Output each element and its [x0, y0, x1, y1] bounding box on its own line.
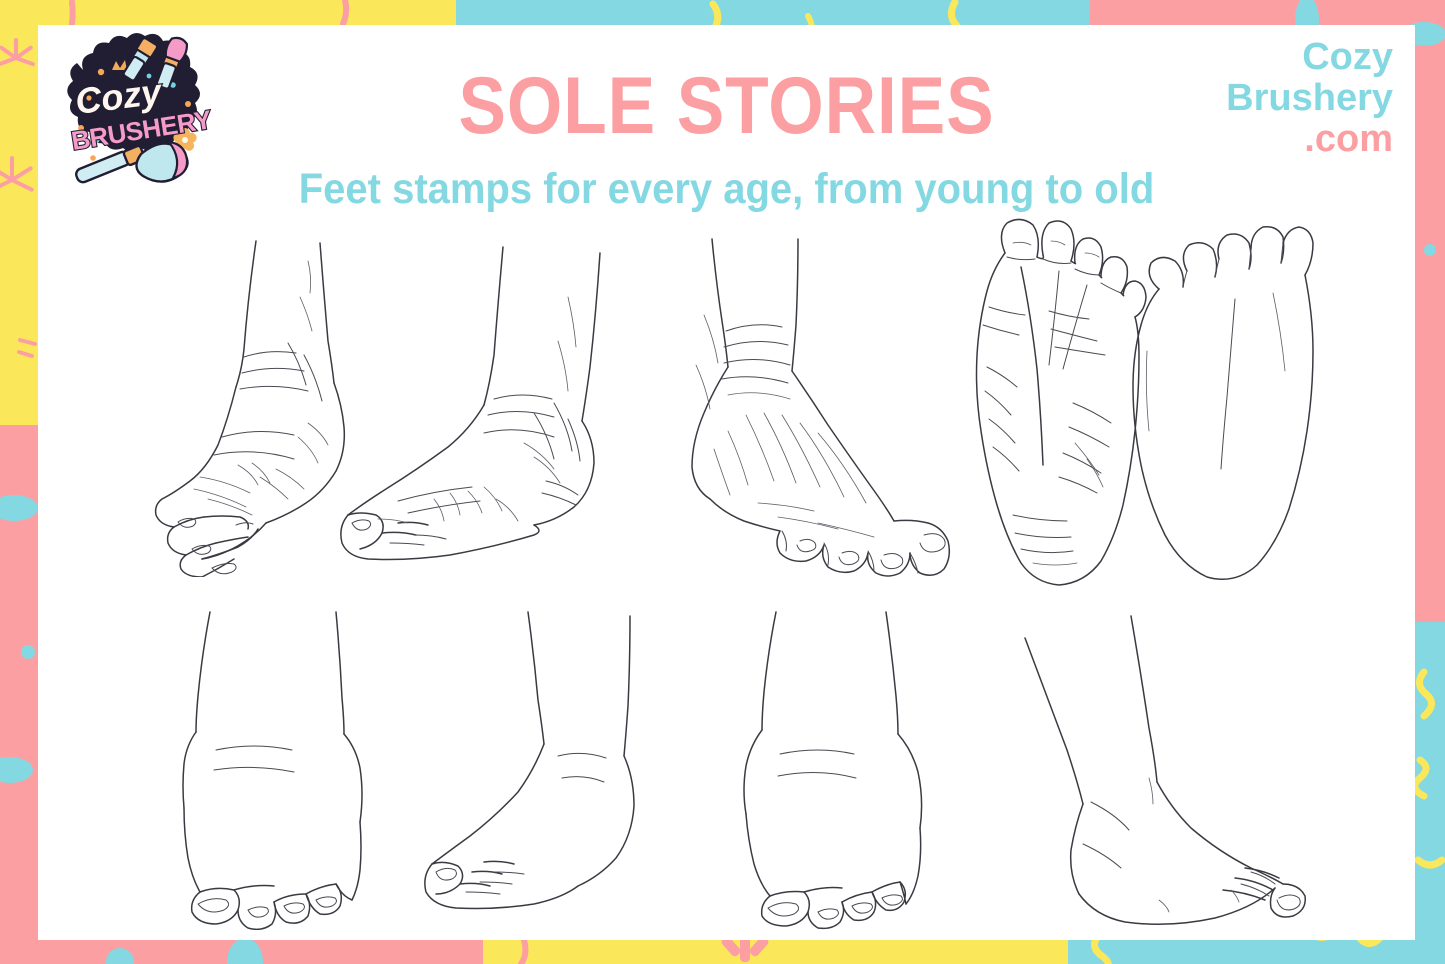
foot-illustration-elderly-top [678, 235, 958, 585]
poster-canvas: Cozy BRUSHERY SOLE STORIES Feet stamps f… [38, 25, 1415, 940]
foot-illustration-young-sole [1123, 221, 1323, 591]
circle-dot [1424, 244, 1436, 256]
site-brand: Cozy Brushery .com [1226, 37, 1393, 160]
foot-illustration-grid [38, 215, 1415, 940]
ellipse-dot [0, 757, 33, 783]
circle-dot [21, 645, 35, 659]
foot-illustration-child-profile [983, 600, 1323, 930]
foot-illustration-child-front [728, 610, 958, 930]
brand-line-dotcom: .com [1226, 119, 1393, 160]
brand-line-brushery: Brushery [1226, 78, 1393, 119]
squiggle-icon [1418, 860, 1442, 865]
squiggle-icon [343, 0, 346, 24]
squiggle-icon [1419, 672, 1431, 716]
foot-illustration-baby-front [168, 610, 398, 930]
starburst-icon [0, 38, 35, 356]
page-subtitle: Feet stamps for every age, from young to… [86, 165, 1367, 214]
brand-line-cozy: Cozy [1226, 37, 1393, 78]
ellipse-dot [0, 495, 38, 521]
squiggle-icon [1415, 760, 1426, 796]
page-title: SOLE STORIES [121, 68, 1333, 145]
foot-illustration-baby-profile [418, 610, 698, 930]
circle-dot [106, 948, 134, 964]
ellipse-dot [227, 938, 263, 964]
foot-illustration-elderly-profile [338, 243, 628, 573]
squiggle-icon [521, 940, 525, 964]
